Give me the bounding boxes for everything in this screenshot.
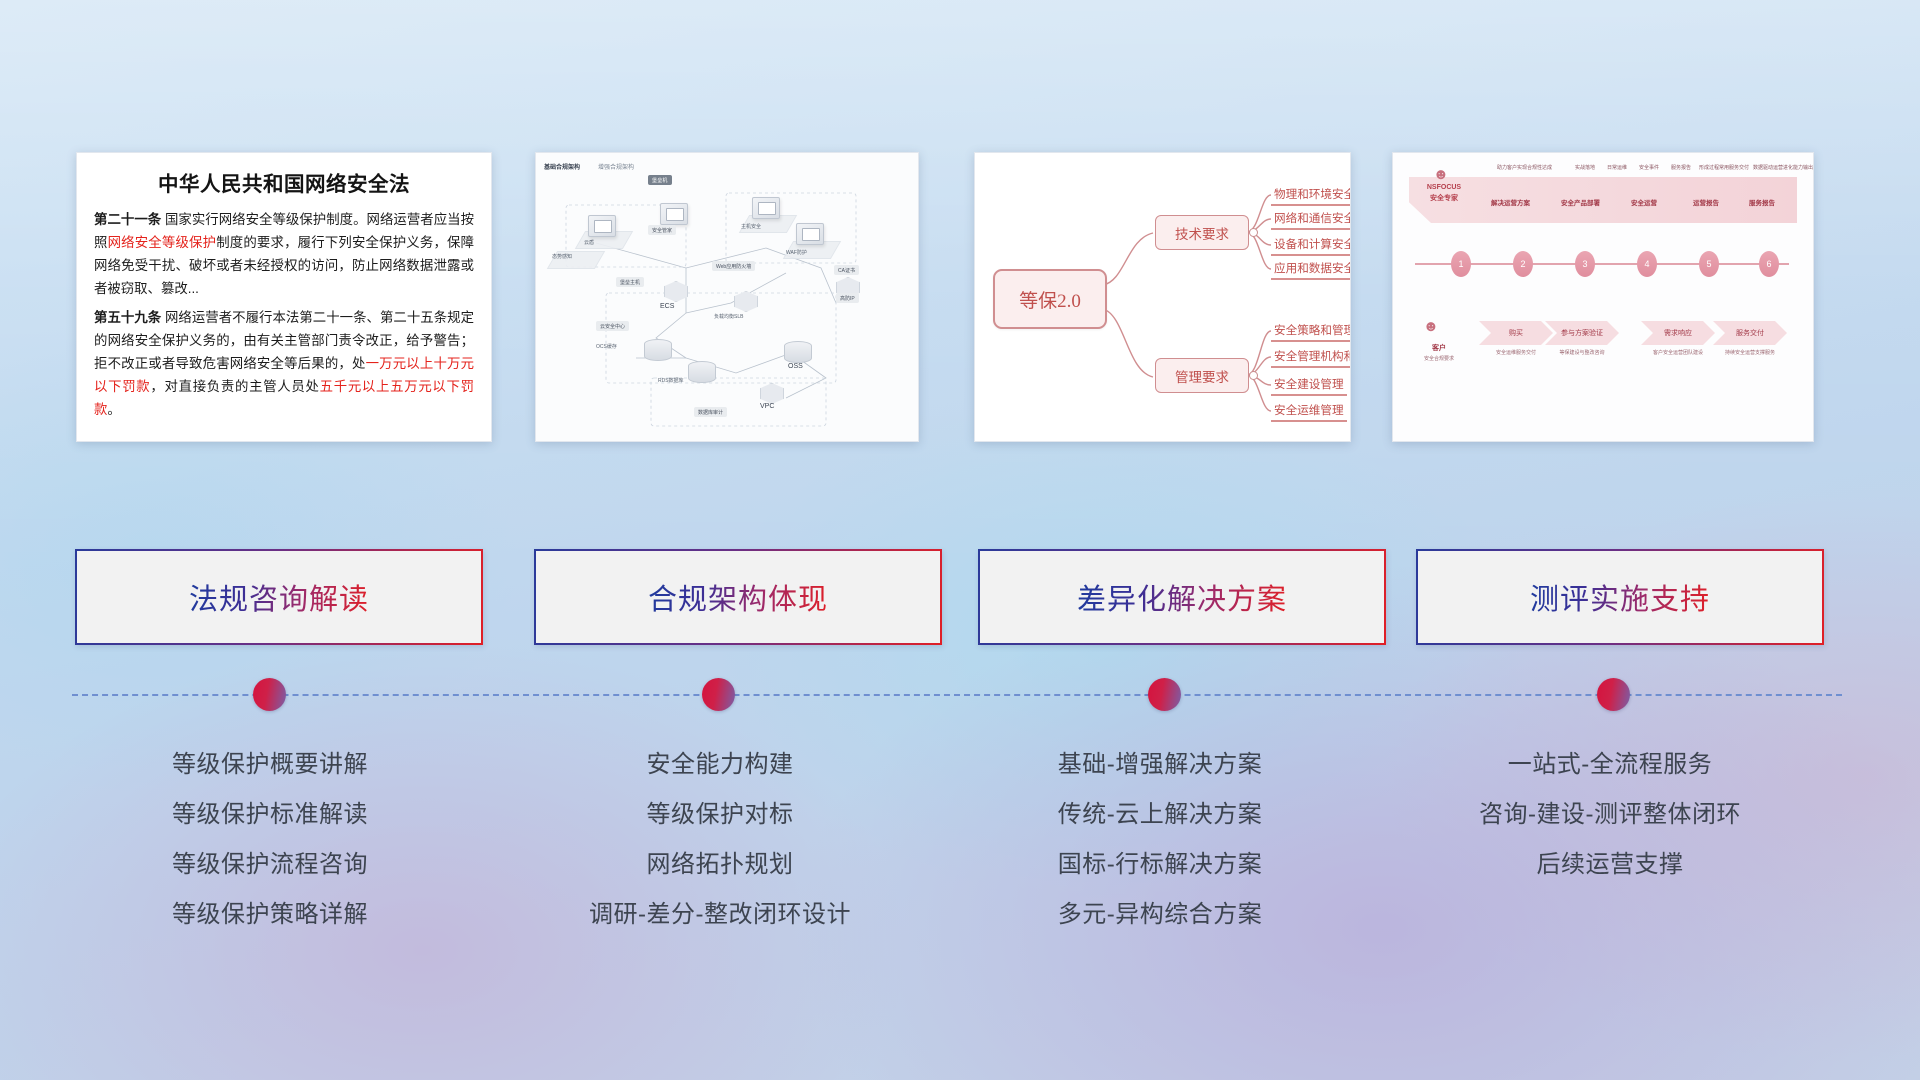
list-item: 等级保护标准解读: [55, 790, 485, 840]
list-item: 等级保护流程咨询: [55, 840, 485, 890]
nsfocus-step-5: 5: [1699, 251, 1719, 277]
card-mindmap-dengbao: 等保2.0 技术要求 管理要求 物理和环境安全 网络和通信安全 设备和计算安全 …: [974, 152, 1351, 442]
nsfocus-lower-note-2: 客户安全运营团队建设: [1641, 349, 1715, 356]
law-article-21-highlight: 网络安全等级保护: [108, 235, 217, 250]
nsfocus-lower-0: 购买: [1479, 321, 1553, 345]
nsfocus-note-0: 助力客户实现合规性达成: [1497, 164, 1552, 171]
nsfocus-head-1: 安全产品部署: [1561, 197, 1600, 207]
arch-label-host-security: 主机安全: [741, 223, 761, 230]
law-article-59-post: 。: [107, 402, 120, 417]
arch-label-waf: WAF防护: [786, 249, 807, 256]
detail-column-1: 等级保护概要讲解 等级保护标准解读 等级保护流程咨询 等级保护策略详解: [55, 740, 485, 940]
nsfocus-step-3: 3: [1575, 251, 1595, 277]
timeline-marker-1[interactable]: [253, 678, 286, 711]
nsfocus-lower-note-0: 安全运维服务交付: [1479, 349, 1553, 356]
arch-label-slb: 负载均衡SLB: [714, 313, 743, 320]
mindmap-leaf-policy-system: 安全策略和管理制度: [1271, 322, 1351, 342]
nsfocus-customer-note: 安全合规要求: [1409, 355, 1469, 362]
mindmap-leaf-operation-mgmt: 安全运维管理: [1271, 402, 1347, 422]
arch-node-security-butler: [660, 203, 688, 225]
arch-label-cloud-shield: 云盾: [584, 239, 594, 246]
arch-node-waf: [796, 223, 824, 245]
nsfocus-head-2: 安全运营: [1631, 197, 1657, 207]
nsfocus-head-4: 服务报告: [1749, 197, 1775, 207]
pill-label-4: 测评实施支持: [1530, 576, 1710, 618]
pill-assessment-support[interactable]: 测评实施支持: [1416, 549, 1824, 645]
nsfocus-step-2: 2: [1513, 251, 1533, 277]
nsfocus-timeline-line: [1415, 263, 1789, 265]
nsfocus-note-5: 形成过程常用服务交付: [1699, 164, 1749, 171]
detail-column-4: 一站式-全流程服务 咨询-建设-测评整体闭环 后续运营支撑: [1395, 740, 1825, 890]
arch-label-oss: OSS: [788, 363, 803, 370]
list-item: 调研-差分-整改闭环设计: [505, 890, 935, 940]
arch-connector-lines: [536, 153, 918, 441]
nsfocus-head-0: 解决运营方案: [1491, 197, 1530, 207]
law-article-21: 第二十一条 国家实行网络安全等级保护制度。网络运营者应当按照网络安全等级保护制度…: [94, 208, 474, 300]
list-item: 后续运营支撑: [1395, 840, 1825, 890]
detail-column-2: 安全能力构建 等级保护对标 网络拓扑规划 调研-差分-整改闭环设计: [505, 740, 935, 940]
arch-node-host-security: [752, 197, 780, 219]
list-item: 传统-云上解决方案: [945, 790, 1375, 840]
arch-label-ca: CA证书: [834, 265, 859, 275]
mindmap-leaf-network-comm: 网络和通信安全: [1271, 210, 1351, 230]
arch-label-db-audit: 数据库审计: [694, 407, 727, 417]
pill-label-3: 差异化解决方案: [1077, 576, 1287, 618]
mindmap-leaf-org-personnel: 安全管理机构和人员: [1271, 348, 1351, 368]
mindmap-diagram: 等保2.0 技术要求 管理要求 物理和环境安全 网络和通信安全 设备和计算安全 …: [975, 153, 1350, 441]
list-item: 基础-增强解决方案: [945, 740, 1375, 790]
illustration-card-row: 中华人民共和国网络安全法 第二十一条 国家实行网络安全等级保护制度。网络运营者应…: [0, 0, 1920, 440]
timeline-dashed-line: [72, 694, 1842, 696]
list-item: 等级保护概要讲解: [55, 740, 485, 790]
arch-label-situation: 态势感知: [552, 253, 572, 260]
card-nsfocus-service-flow: ☻ NSFOCUS 安全专家 助力客户实现合规性达成 实战落地 日常运维 安全事…: [1392, 152, 1814, 442]
pill-regulation-consulting[interactable]: 法规咨询解读: [75, 549, 483, 645]
arch-label-vpc: VPC: [760, 403, 774, 410]
nsfocus-brand-sub: 安全专家: [1415, 194, 1473, 205]
mindmap-leaf-device-compute: 设备和计算安全: [1271, 236, 1351, 256]
mindmap-expand-dot-technical[interactable]: [1249, 228, 1258, 237]
security-expert-icon: ☻: [1433, 167, 1449, 182]
arch-node-cloud-shield: [588, 215, 616, 237]
mindmap-root-node: 等保2.0: [993, 269, 1107, 329]
nsfocus-note-1: 实战落地: [1575, 164, 1595, 171]
pill-compliance-architecture[interactable]: 合规架构体现: [534, 549, 942, 645]
mindmap-branch-management: 管理要求: [1155, 358, 1249, 393]
mindmap-leaf-app-data: 应用和数据安全: [1271, 260, 1351, 280]
timeline-marker-2[interactable]: [702, 678, 735, 711]
card-cloud-architecture: 基础合规架构 增强合规架构: [535, 152, 919, 442]
mindmap-branch-technical: 技术要求: [1155, 215, 1249, 250]
nsfocus-lower-2: 需求响应: [1641, 321, 1715, 345]
list-item: 网络拓扑规划: [505, 840, 935, 890]
law-article-59-number: 第五十九条: [94, 310, 161, 325]
nsfocus-head-3: 运营报告: [1693, 197, 1719, 207]
nsfocus-lower-3: 服务交付: [1713, 321, 1787, 345]
nsfocus-note-2: 日常运维: [1607, 164, 1627, 171]
nsfocus-brand: NSFOCUS 安全专家: [1415, 183, 1473, 204]
arch-label-ocs: OCS缓存: [596, 343, 617, 350]
arch-label-cloud-sec-center: 云安全中心: [596, 321, 629, 331]
pill-label-1: 法规咨询解读: [189, 576, 369, 618]
timeline-marker-3[interactable]: [1148, 678, 1181, 711]
list-item: 安全能力构建: [505, 740, 935, 790]
nsfocus-lower-1: 参与方案验证: [1545, 321, 1619, 345]
nsfocus-infographic: ☻ NSFOCUS 安全专家 助力客户实现合规性达成 实战落地 日常运维 安全事…: [1393, 153, 1813, 441]
nsfocus-step-4: 4: [1637, 251, 1657, 277]
nsfocus-note-4: 服务报告: [1671, 164, 1691, 171]
slide-stage: 中华人民共和国网络安全法 第二十一条 国家实行网络安全等级保护制度。网络运营者应…: [0, 0, 1920, 1080]
law-article-59: 第五十九条 网络运营者不履行本法第二十一条、第二十五条规定的网络安全保护义务的，…: [94, 306, 474, 421]
arch-label-bastion-host: 堡垒主机: [616, 277, 644, 287]
arch-cyl-rds: [688, 361, 716, 383]
mindmap-expand-dot-management[interactable]: [1249, 371, 1258, 380]
arch-label-web-firewall: Web应用防火墙: [712, 261, 755, 271]
list-item: 咨询-建设-测评整体闭环: [1395, 790, 1825, 840]
pill-differentiated-solution[interactable]: 差异化解决方案: [978, 549, 1386, 645]
mindmap-leaf-construction-mgmt: 安全建设管理: [1271, 376, 1347, 396]
pill-label-2: 合规架构体现: [648, 576, 828, 618]
customer-icon: ☻: [1423, 319, 1439, 334]
list-item: 等级保护策略详解: [55, 890, 485, 940]
architecture-diagram: 基础合规架构 增强合规架构: [536, 153, 918, 441]
timeline-marker-4[interactable]: [1597, 678, 1630, 711]
nsfocus-lower-note-1: 等保建设与整改咨询: [1545, 349, 1619, 356]
arch-label-security-butler: 安全管家: [648, 225, 676, 235]
card-cybersecurity-law: 中华人民共和国网络安全法 第二十一条 国家实行网络安全等级保护制度。网络运营者应…: [76, 152, 492, 442]
list-item: 等级保护对标: [505, 790, 935, 840]
arch-label-ecs: ECS: [660, 303, 674, 310]
arch-label-rds: RDS数据库: [658, 377, 684, 384]
arch-label-antiddos-ip: 高防IP: [836, 293, 859, 303]
law-article-21-number: 第二十一条: [94, 212, 161, 227]
detail-column-3: 基础-增强解决方案 传统-云上解决方案 国标-行标解决方案 多元-异构综合方案: [945, 740, 1375, 940]
law-title: 中华人民共和国网络安全法: [94, 167, 474, 197]
law-article-59-mid: ，对直接负责的主管人员处: [150, 379, 319, 394]
nsfocus-lower-note-3: 持续安全运营支撑服务: [1713, 349, 1787, 356]
mindmap-leaf-physical-env: 物理和环境安全: [1271, 186, 1351, 206]
law-document: 中华人民共和国网络安全法 第二十一条 国家实行网络安全等级保护制度。网络运营者应…: [77, 153, 491, 441]
nsfocus-note-6: 数据驱动运营进化能力输出: [1753, 164, 1813, 171]
nsfocus-brand-name: NSFOCUS: [1415, 183, 1473, 194]
nsfocus-customer-label: 客户: [1415, 343, 1463, 353]
arch-cyl-ocs: [644, 339, 672, 361]
list-item: 一站式-全流程服务: [1395, 740, 1825, 790]
list-item: 国标-行标解决方案: [945, 840, 1375, 890]
nsfocus-step-6: 6: [1759, 251, 1779, 277]
arch-label-bastion: 堡垒机: [648, 175, 672, 185]
list-item: 多元-异构综合方案: [945, 890, 1375, 940]
nsfocus-step-1: 1: [1451, 251, 1471, 277]
nsfocus-note-3: 安全事件: [1639, 164, 1659, 171]
arch-cyl-oss: [784, 341, 812, 363]
